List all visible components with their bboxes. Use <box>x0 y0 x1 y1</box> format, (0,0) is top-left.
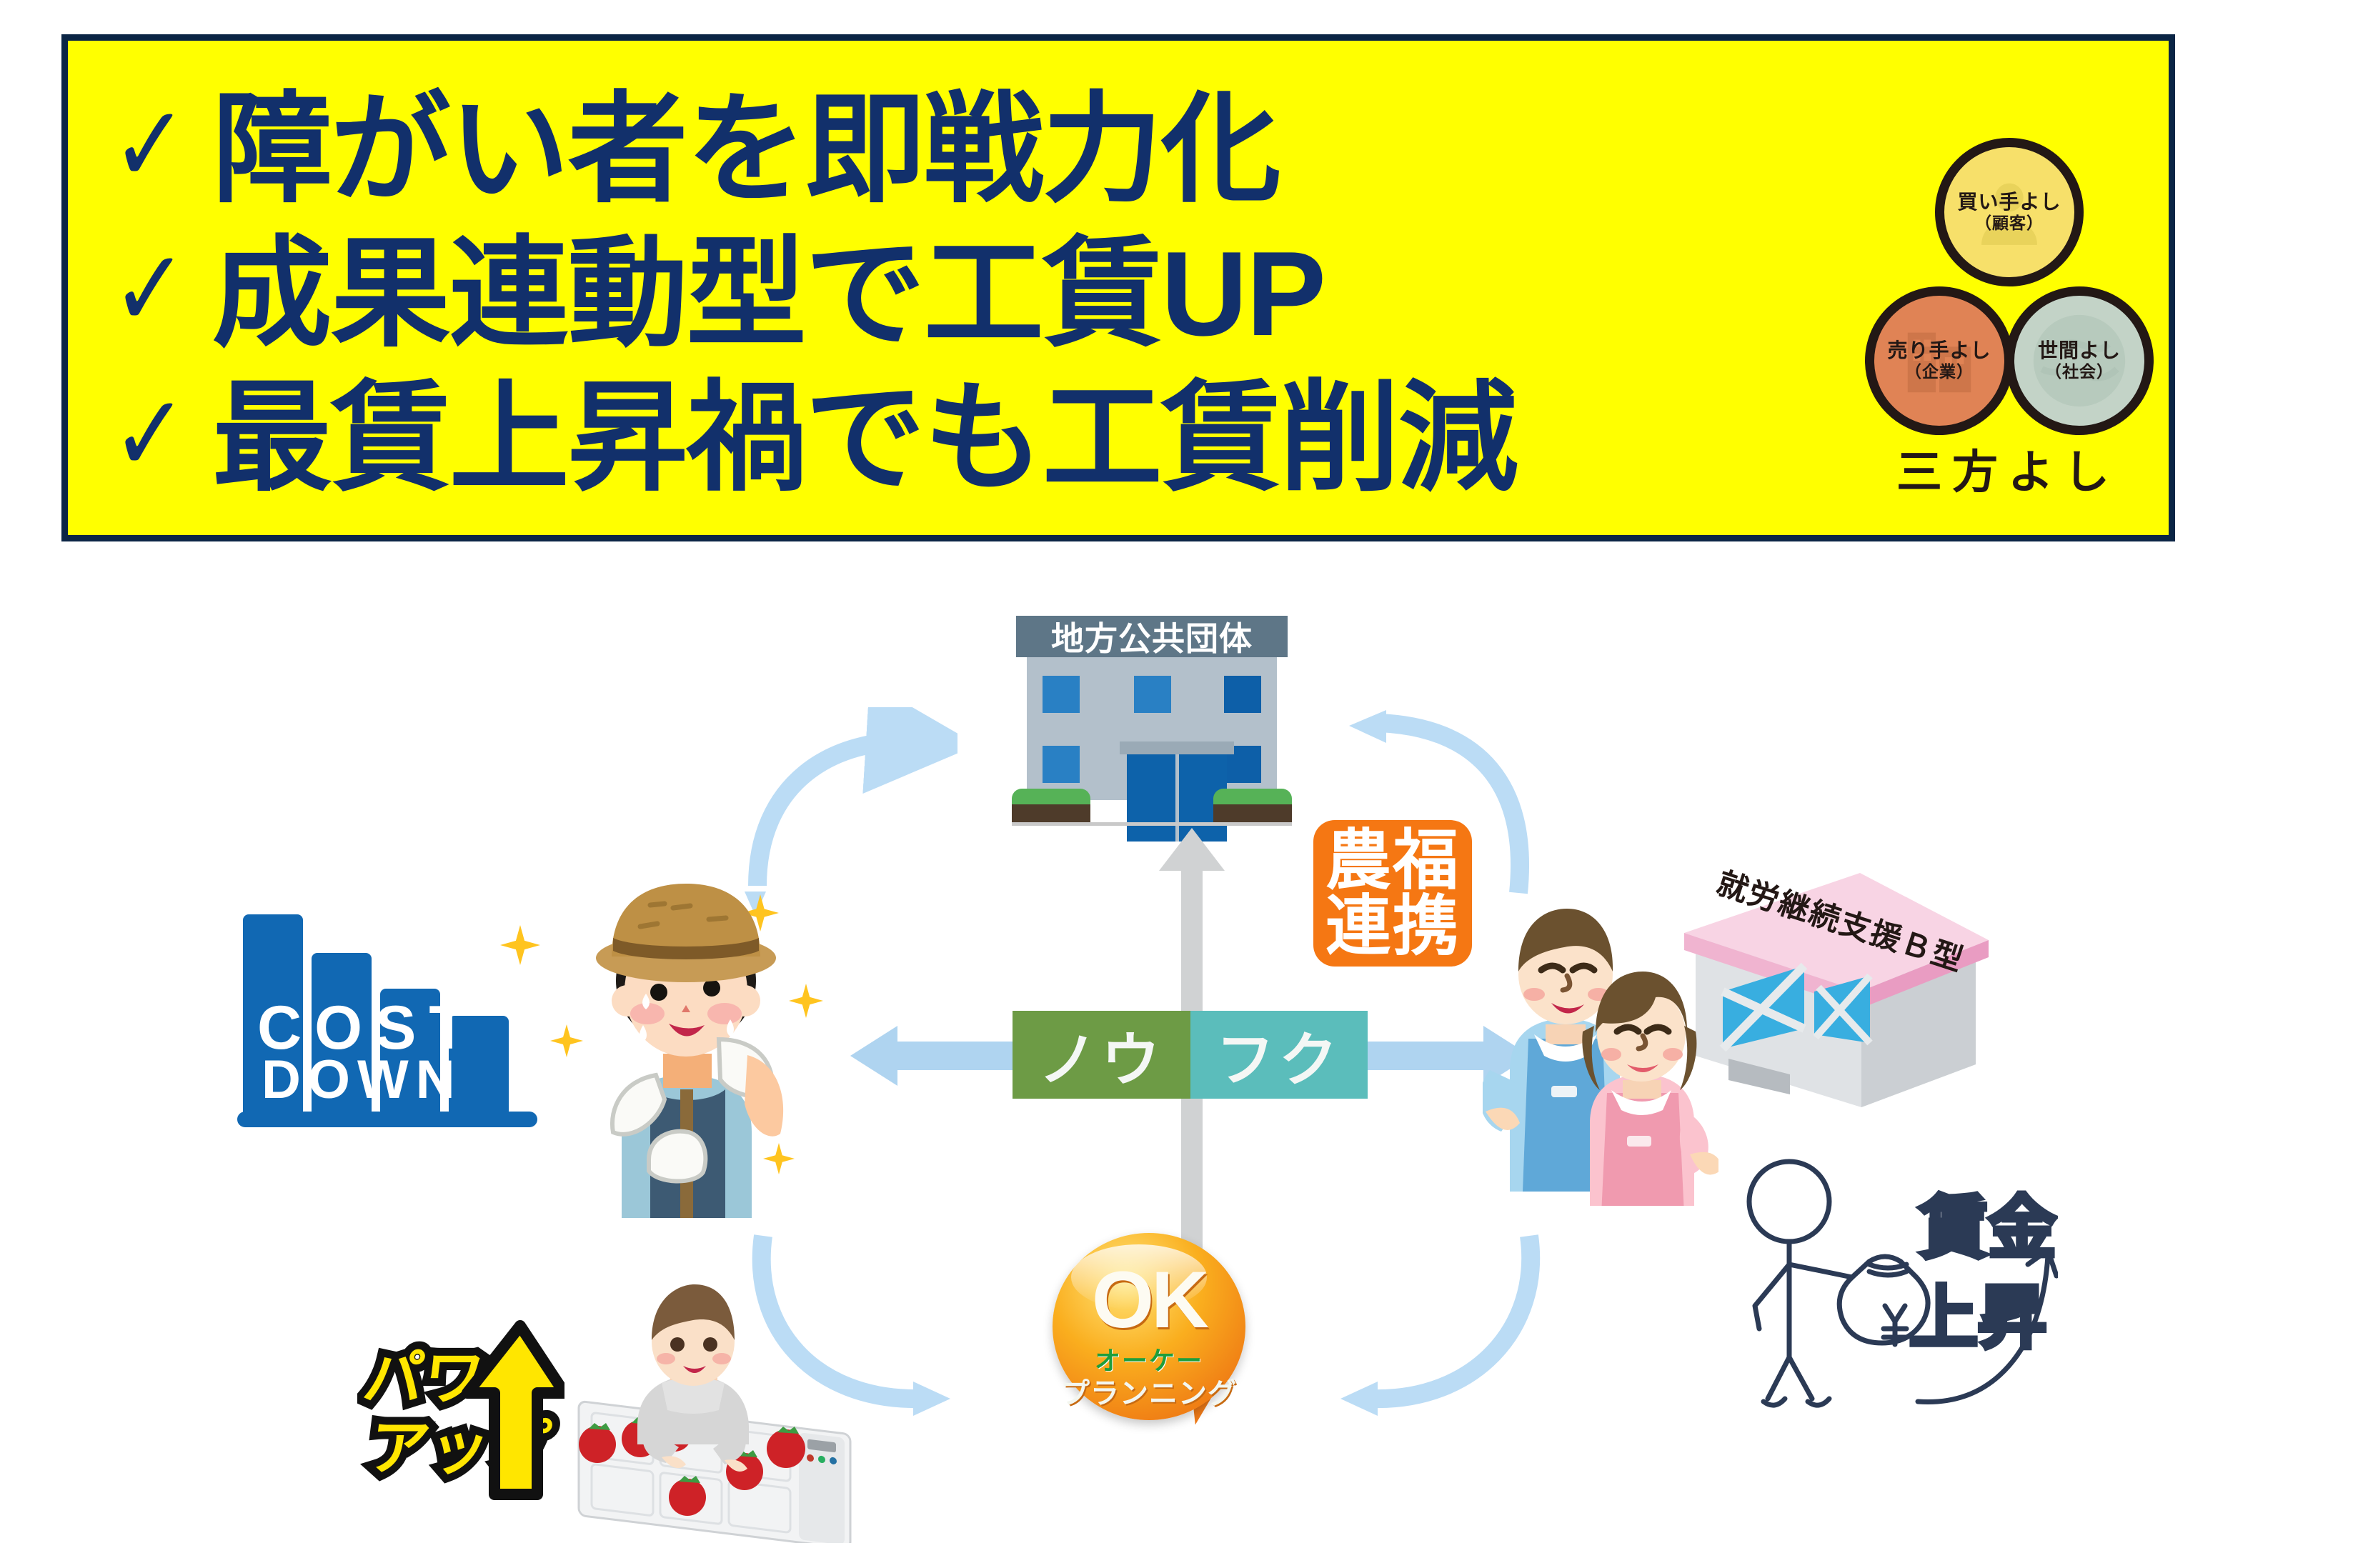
hedge-icon <box>1213 800 1292 824</box>
power-up-icon: パワー アップ <box>357 1314 564 1507</box>
ok-logo-name: プランニング <box>1053 1370 1245 1412</box>
window-icon <box>1224 676 1261 713</box>
check-icon: ✓ <box>111 226 186 352</box>
cost-down-icon: COST DOWN <box>237 870 544 1127</box>
sanpo-circle-buyer: 買い手よし （顧客） <box>1935 138 2084 286</box>
wage-up-illustration: 賃金 上昇 <box>1743 1150 2058 1422</box>
wage-up-line2: 上昇 <box>1909 1280 2046 1357</box>
sanpo-sub-seller: （企業） <box>1905 362 1974 382</box>
sanpo-circle-society: 世間よし （社会） <box>2005 286 2154 435</box>
facility-staff-group <box>1483 892 1718 1206</box>
sparkle-icon <box>500 925 540 965</box>
ok-logo-text: OK <box>1053 1264 1245 1337</box>
ok-planning-logo: OK オーケー プランニング <box>1053 1233 1267 1447</box>
headline-item-3: ✓ 最賃上昇禍でも工賃削減 <box>105 367 1720 509</box>
nofuku-renkei-badge: 農福 連携 <box>1313 820 1472 967</box>
nofuku-badge-line1: 農福 <box>1325 828 1460 894</box>
arrow-left <box>850 1022 1015 1090</box>
check-icon: ✓ <box>111 371 186 497</box>
sanpo-sub-buyer: （顧客） <box>1975 214 2044 234</box>
headline-list: ✓ 障がい者を即戦力化 ✓ 成果連動型で工賃UP ✓ 最賃上昇禍でも工賃削減 <box>105 51 1720 536</box>
sanpo-yoshi-diagram: 買い手よし （顧客） 売り手よし （企業） <box>1822 132 2194 561</box>
farmer-character <box>543 861 829 1218</box>
hedge-icon <box>1012 800 1090 824</box>
noufuku-bar-nou: ノウ <box>1013 1011 1190 1099</box>
entrance-canopy <box>1120 741 1234 754</box>
curved-arrow-bottom-right <box>1322 1207 1558 1436</box>
window-icon <box>1043 746 1080 783</box>
ground-line <box>1012 822 1292 826</box>
female-staff <box>1582 972 1718 1206</box>
nofuku-badge-line2: 連携 <box>1325 894 1460 959</box>
headline-text-1: 障がい者を即戦力化 <box>212 79 1280 220</box>
sanpo-label-seller: 売り手よし <box>1887 340 1991 362</box>
local-government-building: 地方公共団体 <box>1002 616 1302 830</box>
sanpo-circle-seller: 売り手よし （企業） <box>1865 286 2014 435</box>
headline-text-2: 成果連動型で工賃UP <box>212 223 1325 364</box>
sanpo-label-society: 世間よし <box>2038 340 2121 362</box>
headline-banner: ✓ 障がい者を即戦力化 ✓ 成果連動型で工賃UP ✓ 最賃上昇禍でも工賃削減 買… <box>61 34 2175 541</box>
noufuku-bar-fuku: フク <box>1190 1011 1368 1099</box>
sanpo-yoshi-title: 三方よし <box>1822 436 2194 501</box>
check-icon: ✓ <box>111 81 186 208</box>
government-building-body <box>1027 657 1277 800</box>
sorting-worker-character <box>572 1257 879 1543</box>
stick-person-icon <box>1749 1162 1829 1242</box>
headline-item-2: ✓ 成果連動型で工賃UP <box>105 223 1720 364</box>
noufuku-label-bars: ノウ フク <box>1013 1011 1368 1099</box>
cost-down-label-down: DOWN <box>262 1049 526 1111</box>
sanpo-ring: 買い手よし （顧客） 売り手よし （企業） <box>1865 138 2151 424</box>
headline-item-1: ✓ 障がい者を即戦力化 <box>105 79 1720 220</box>
government-sign-label: 地方公共団体 <box>1016 616 1288 657</box>
sanpo-sub-society: （社会） <box>2045 362 2114 382</box>
cost-down-baseline <box>237 1112 537 1127</box>
sanpo-label-buyer: 買い手よし <box>1957 191 2061 214</box>
window-icon <box>1134 676 1171 713</box>
b-type-facility: 就労継続支援Ｂ型 <box>1576 807 2004 1207</box>
headline-text-3: 最賃上昇禍でも工賃削減 <box>212 367 1517 509</box>
wage-up-line1: 賃金 <box>1919 1190 2056 1267</box>
window-icon <box>1043 676 1080 713</box>
